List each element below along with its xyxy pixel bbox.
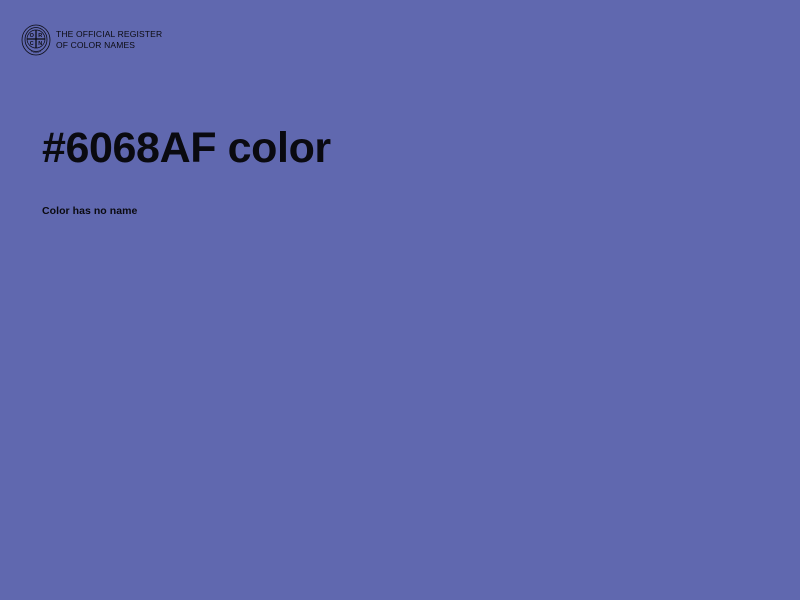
svg-text:C: C — [30, 41, 34, 47]
color-swatch-background — [0, 0, 800, 600]
svg-text:O: O — [30, 33, 35, 39]
color-page: O R C N THE OFFICIAL REGISTER OF COLOR N… — [0, 0, 800, 600]
page-title: #6068AF color — [42, 122, 742, 174]
svg-text:R: R — [38, 33, 42, 39]
brand-wordmark-line-1: THE OFFICIAL REGISTER — [56, 29, 162, 40]
color-name-status: Color has no name — [42, 204, 742, 218]
official-register-seal-icon: O R C N — [21, 24, 51, 56]
color-info-block: #6068AF color Color has no name — [42, 122, 742, 218]
brand-wordmark-line-2: OF COLOR NAMES — [56, 40, 162, 51]
brand-lockup[interactable]: O R C N THE OFFICIAL REGISTER OF COLOR N… — [21, 24, 162, 56]
brand-wordmark: THE OFFICIAL REGISTER OF COLOR NAMES — [56, 29, 162, 51]
svg-text:N: N — [38, 41, 42, 47]
